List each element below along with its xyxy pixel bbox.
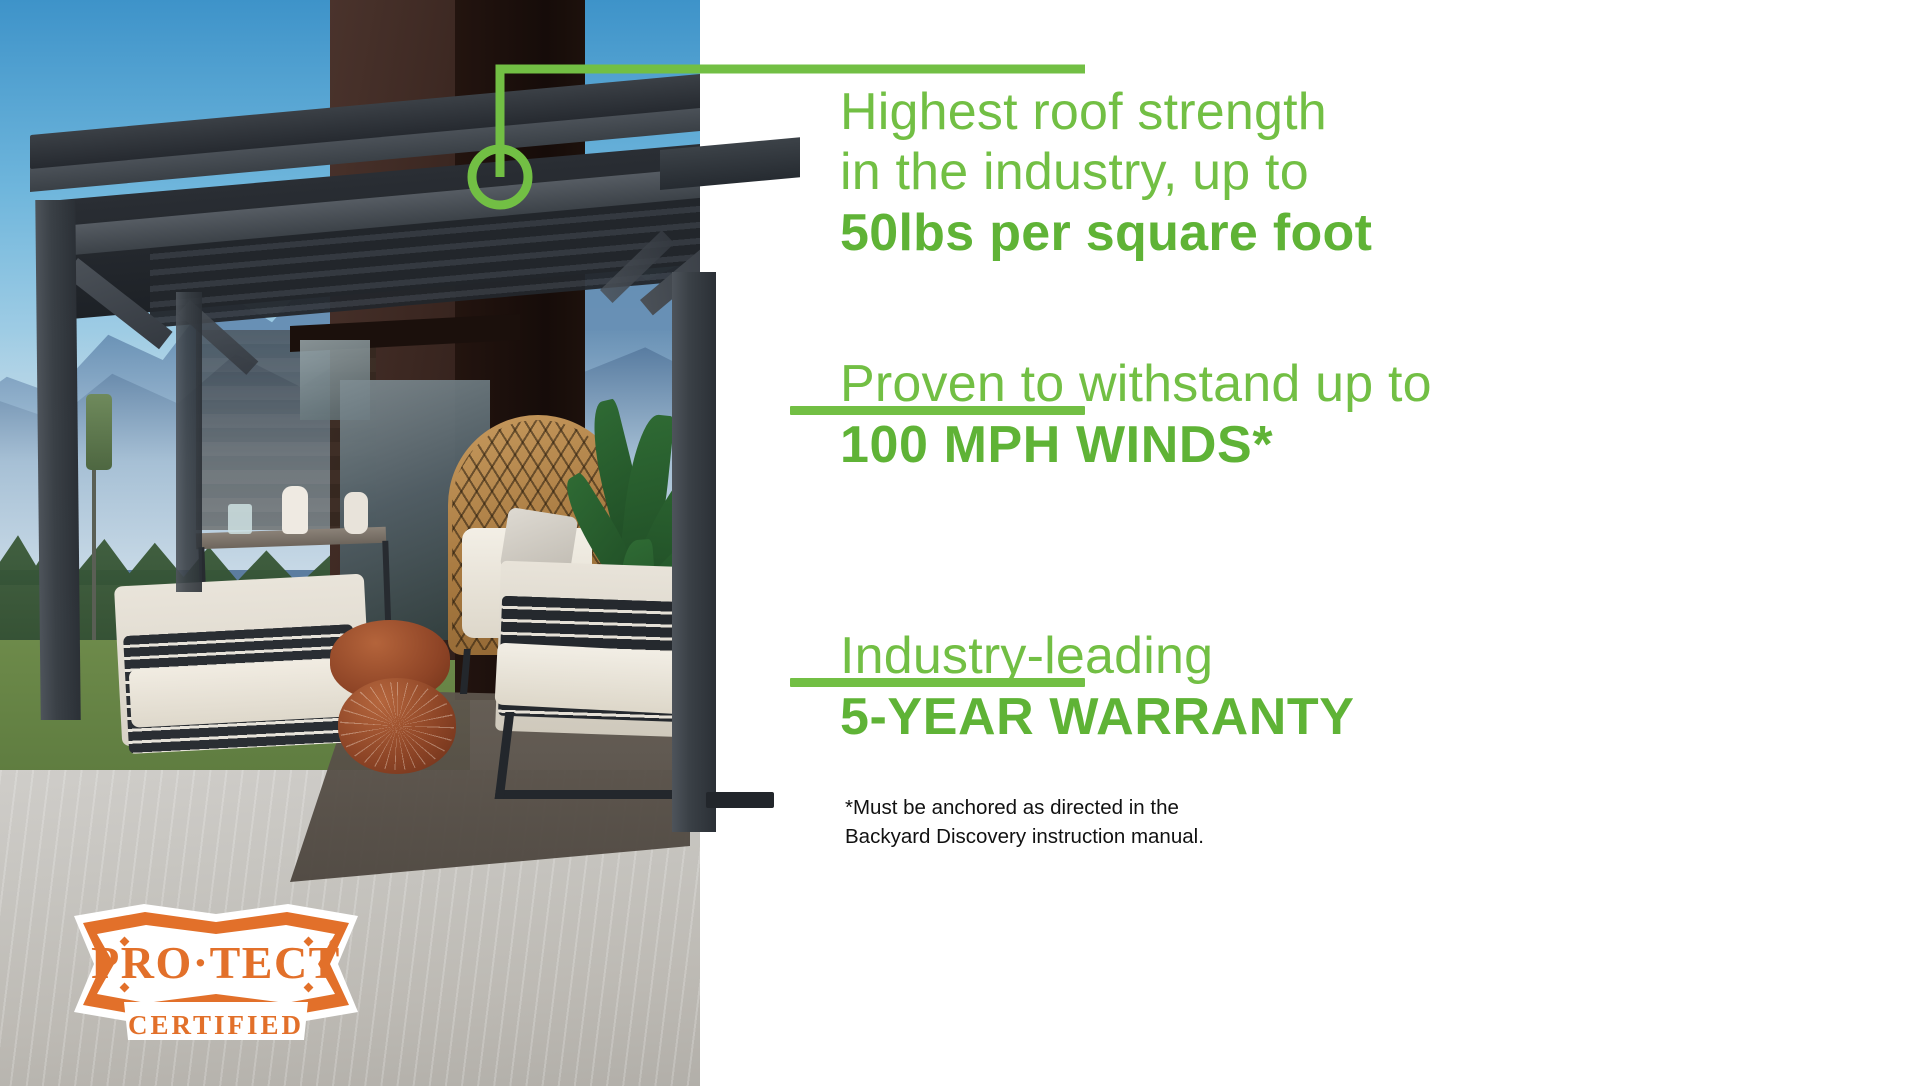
feature-text-line: Proven to withstand up to — [840, 354, 1432, 414]
footnote: *Must be anchored as directed in the Bac… — [845, 793, 1365, 851]
feature-highlight: 50lbs per square foot — [840, 202, 1372, 264]
feature-text-line: in the industry, up to — [840, 142, 1372, 202]
bench-legs — [495, 712, 700, 799]
badge-registered-mark: ® — [329, 936, 339, 951]
protect-certified-badge: PRO·TECT ® CERTIFIED — [66, 898, 366, 1050]
pouf-stitching — [340, 682, 454, 770]
badge-top-text: PRO·TECT — [91, 937, 341, 988]
feature-warranty: Industry-leading 5-YEAR WARRANTY — [840, 626, 1355, 748]
feature-highlight: 5-YEAR WARRANTY — [840, 686, 1355, 748]
wall-fixture — [86, 394, 112, 470]
gazebo-post-rear-left — [176, 292, 202, 592]
badge-bottom-text: CERTIFIED — [128, 1010, 304, 1040]
feature-text-line: Highest roof strength — [840, 82, 1372, 142]
footnote-line: *Must be anchored as directed in the — [845, 793, 1365, 822]
feature-wind-rating: Proven to withstand up to 100 MPH WINDS* — [840, 354, 1432, 476]
drinking-glass — [228, 504, 252, 534]
bench-seat-cushion — [495, 643, 700, 716]
gazebo-post-foot — [706, 792, 774, 808]
footnote-line: Backyard Discovery instruction manual. — [845, 822, 1365, 851]
vase-small — [344, 492, 368, 534]
vase-large — [282, 486, 308, 534]
feature-roof-strength: Highest roof strength in the industry, u… — [840, 82, 1372, 264]
hanging-cord — [92, 470, 96, 640]
gazebo-post-front-right — [672, 272, 716, 832]
infographic-canvas: Highest roof strength in the industry, u… — [0, 0, 1920, 1086]
feature-highlight: 100 MPH WINDS* — [840, 414, 1432, 476]
lounge-chair-cushion — [129, 658, 354, 728]
gazebo-post-front-left — [35, 200, 80, 720]
features-column: Highest roof strength in the industry, u… — [790, 0, 1920, 1086]
badge-artwork: PRO·TECT ® CERTIFIED — [66, 898, 366, 1050]
feature-text-line: Industry-leading — [840, 626, 1355, 686]
